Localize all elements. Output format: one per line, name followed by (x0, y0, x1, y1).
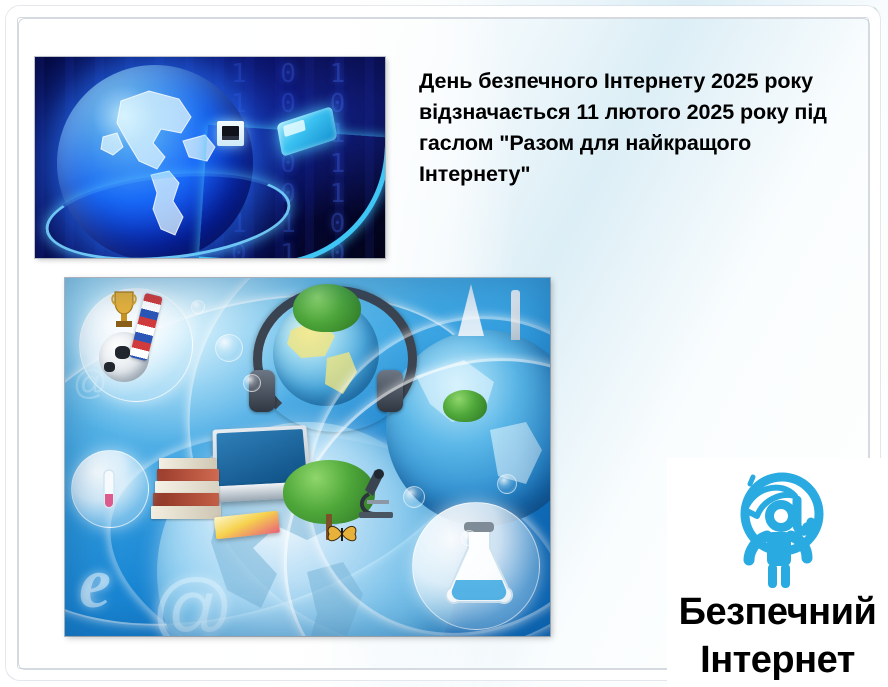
bubble-deco-3 (403, 486, 425, 508)
internet-explorer-glyph: e (79, 552, 147, 620)
book-3 (155, 481, 219, 493)
butterfly-icon (325, 524, 359, 544)
bubble-deco-6 (497, 474, 517, 494)
image-globe-ethernet-cable: 1 0 1 1 0 0 1 0 1 1 0 1 0 0 1 1 1 0 0 1 … (35, 57, 385, 258)
trophy-icon (111, 290, 137, 330)
book-5 (151, 506, 221, 519)
rj45-port-icon (217, 121, 244, 146)
logo-line-2: Інтернет (667, 636, 888, 684)
book-4 (153, 493, 219, 506)
test-tube-icon (101, 468, 117, 512)
page-title: День безпечного Інтернету 2025 року відз… (419, 66, 839, 190)
logo-safe-internet: Безпечний Інтернет (667, 458, 888, 687)
book-1 (159, 458, 217, 469)
book-2 (157, 469, 219, 481)
logo-wordmark: Безпечний Інтернет (667, 588, 888, 684)
bubble-deco-5 (191, 300, 205, 314)
microscope-icon (353, 466, 397, 524)
child-with-umbrella-at-sign-icon (719, 466, 837, 594)
bubble-deco-1 (215, 334, 243, 362)
bubble-deco-2 (243, 374, 261, 392)
at-sign-glyph-large: @ (151, 568, 234, 636)
logo-line-1: Безпечний (667, 588, 888, 636)
flask-icon (442, 522, 516, 608)
at-sign-glyph-small: @ (73, 364, 108, 403)
collage-tree-top (293, 284, 361, 332)
image-education-collage: e @ @ (65, 278, 550, 636)
bubble-deco-4 (461, 530, 477, 546)
slide-canvas: 1 0 1 1 0 0 1 0 1 1 0 1 0 0 1 1 1 0 0 1 … (0, 0, 888, 687)
